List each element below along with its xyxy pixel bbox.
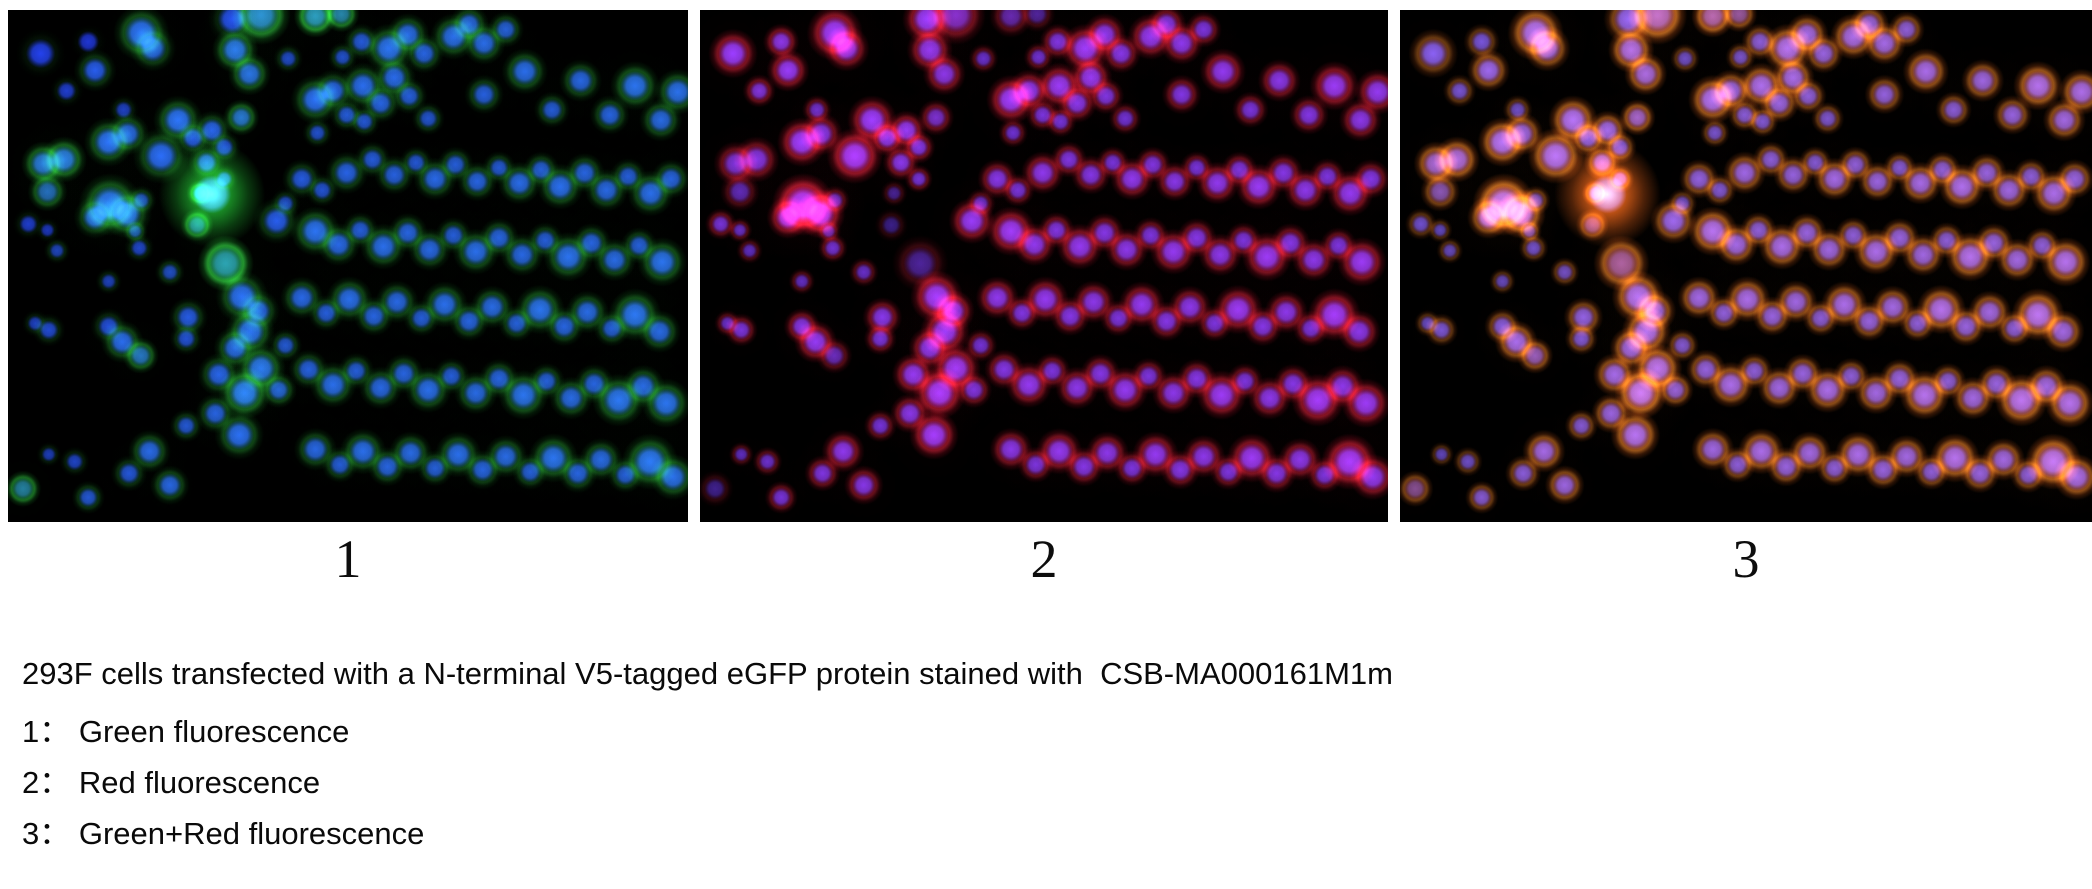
panel-row xyxy=(0,0,2092,515)
red-fluorescence-panel xyxy=(700,10,1388,522)
figure-caption: 293F cells transfected with a N-terminal… xyxy=(22,648,2022,859)
immunofluorescence-figure: 1 2 3 293F cells transfected with a N-te… xyxy=(0,0,2092,889)
caption-legend-2: 2： Red fluorescence xyxy=(22,757,2022,808)
caption-legend-3: 3： Green+Red fluorescence xyxy=(22,808,2022,859)
merged-fluorescence-panel xyxy=(1400,10,2092,522)
green-channel-image xyxy=(8,10,688,522)
caption-legend-1: 1： Green fluorescence xyxy=(22,706,2022,757)
green-fluorescence-panel xyxy=(8,10,688,522)
merged-channel-image xyxy=(1400,10,2092,522)
panel-number-2: 2 xyxy=(700,524,1388,594)
panel-number-3: 3 xyxy=(1400,524,2092,594)
caption-title: 293F cells transfected with a N-terminal… xyxy=(22,648,2022,699)
red-channel-image xyxy=(700,10,1388,522)
panel-number-1: 1 xyxy=(8,524,688,594)
